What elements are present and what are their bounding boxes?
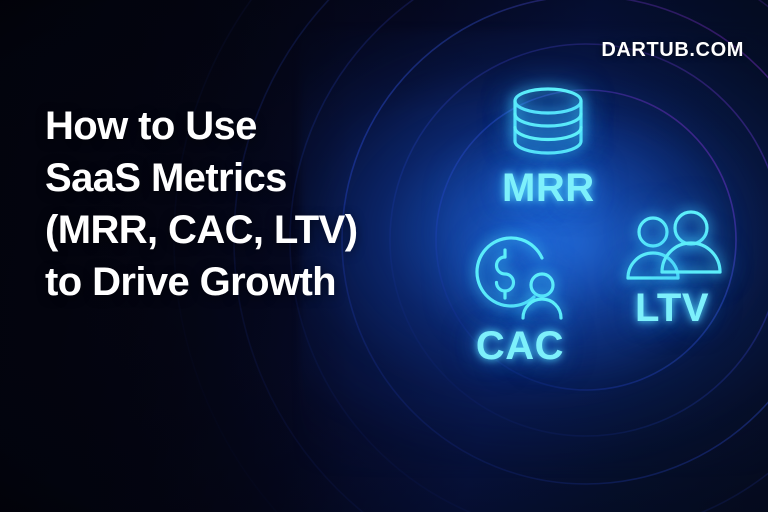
metric-mrr-label: MRR: [502, 168, 595, 208]
dollar-circle-person-icon: [470, 228, 570, 322]
two-people-icon: [620, 212, 724, 284]
banner-canvas: DARTUB.COM How to Use SaaS Metrics (MRR,…: [0, 0, 768, 512]
page-title-line-4: to Drive Growth: [45, 256, 445, 308]
page-title-line-3: (MRR, CAC, LTV): [45, 204, 445, 256]
page-title: How to Use SaaS Metrics (MRR, CAC, LTV) …: [45, 100, 445, 308]
page-title-line-1: How to Use: [45, 100, 445, 152]
brand-watermark: DARTUB.COM: [601, 39, 744, 62]
database-stack-icon: [507, 86, 589, 160]
page-title-line-2: SaaS Metrics: [45, 152, 445, 204]
metric-ltv-label: LTV: [635, 288, 709, 328]
metric-cac: CAC: [470, 228, 570, 366]
metric-ltv: LTV: [620, 212, 724, 328]
metric-mrr: MRR: [502, 86, 595, 208]
metric-cac-label: CAC: [476, 326, 564, 366]
